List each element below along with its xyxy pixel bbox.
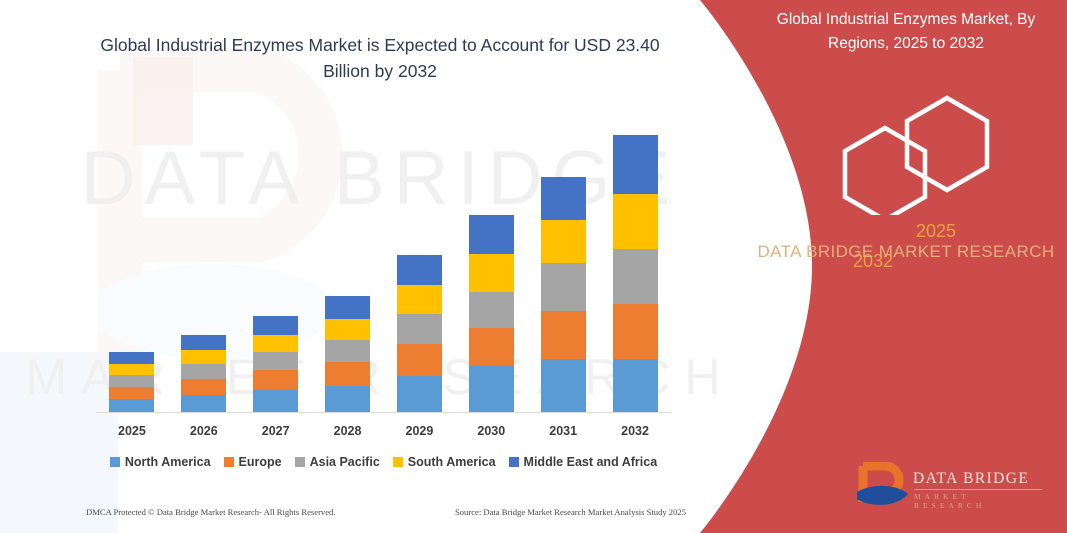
bar-segment[interactable] bbox=[325, 386, 370, 412]
bar-column bbox=[96, 110, 168, 412]
bar-segment[interactable] bbox=[397, 255, 442, 285]
legend-item[interactable]: North America bbox=[110, 455, 211, 469]
legend-label: Middle East and Africa bbox=[524, 455, 658, 469]
x-axis-tick-label: 2027 bbox=[240, 424, 312, 438]
bar-segment[interactable] bbox=[253, 335, 298, 352]
legend-item[interactable]: Middle East and Africa bbox=[509, 455, 658, 469]
bar-group bbox=[96, 110, 671, 412]
bar-segment[interactable] bbox=[613, 359, 658, 412]
footer: DMCA Protected © Data Bridge Market Rese… bbox=[86, 507, 686, 517]
bar-column bbox=[384, 110, 456, 412]
bar-segment[interactable] bbox=[181, 335, 226, 350]
bar-segment[interactable] bbox=[253, 370, 298, 390]
bar-segment[interactable] bbox=[181, 364, 226, 379]
hexagon-badges: 2025 2032 bbox=[745, 90, 1067, 215]
bar-segment[interactable] bbox=[469, 215, 514, 254]
bar-segment[interactable] bbox=[469, 328, 514, 366]
x-axis-labels: 20252026202720282029203020312032 bbox=[96, 424, 671, 438]
legend-item[interactable]: South America bbox=[393, 455, 496, 469]
stacked-bar[interactable] bbox=[541, 177, 586, 412]
bar-segment[interactable] bbox=[109, 387, 154, 399]
bar-segment[interactable] bbox=[541, 359, 586, 412]
stacked-bar[interactable] bbox=[397, 255, 442, 412]
bar-segment[interactable] bbox=[397, 314, 442, 344]
chart-infographic: DATA BRIDGE MARKET RESEARCH Global Indus… bbox=[0, 0, 1067, 533]
panel-title: Global Industrial Enzymes Market, By Reg… bbox=[745, 8, 1067, 56]
legend-item[interactable]: Asia Pacific bbox=[295, 455, 380, 469]
bridge-logo-icon bbox=[855, 462, 911, 512]
bar-segment[interactable] bbox=[613, 135, 658, 194]
stacked-bar[interactable] bbox=[253, 316, 298, 412]
bar-segment[interactable] bbox=[469, 366, 514, 412]
legend-swatch-icon bbox=[110, 457, 120, 467]
x-axis-tick-label: 2031 bbox=[527, 424, 599, 438]
legend-item[interactable]: Europe bbox=[224, 455, 282, 469]
brand-name: DATA BRIDGE MARKET RESEARCH bbox=[745, 238, 1067, 265]
bar-column bbox=[455, 110, 527, 412]
footer-copyright: DMCA Protected © Data Bridge Market Rese… bbox=[86, 507, 336, 517]
bar-segment[interactable] bbox=[109, 375, 154, 387]
bar-segment[interactable] bbox=[325, 340, 370, 362]
x-axis-tick-label: 2029 bbox=[384, 424, 456, 438]
bar-segment[interactable] bbox=[109, 399, 154, 412]
legend-label: North America bbox=[125, 455, 211, 469]
bar-segment[interactable] bbox=[613, 249, 658, 304]
bar-segment[interactable] bbox=[253, 352, 298, 371]
hexagon-shapes-icon bbox=[745, 90, 1067, 215]
bar-segment[interactable] bbox=[469, 292, 514, 328]
bar-segment[interactable] bbox=[181, 350, 226, 364]
legend-label: Asia Pacific bbox=[310, 455, 380, 469]
stacked-bar[interactable] bbox=[613, 135, 658, 412]
legend-swatch-icon bbox=[224, 457, 234, 467]
bar-column bbox=[527, 110, 599, 412]
bar-segment[interactable] bbox=[397, 376, 442, 412]
bar-segment[interactable] bbox=[469, 254, 514, 292]
legend-label: South America bbox=[408, 455, 496, 469]
bar-segment[interactable] bbox=[397, 285, 442, 314]
stacked-bar[interactable] bbox=[181, 335, 226, 412]
x-axis-tick-label: 2026 bbox=[168, 424, 240, 438]
logo-divider bbox=[914, 489, 1042, 490]
bar-column bbox=[168, 110, 240, 412]
bar-segment[interactable] bbox=[109, 364, 154, 375]
bar-segment[interactable] bbox=[253, 390, 298, 412]
bar-segment[interactable] bbox=[181, 379, 226, 395]
logo-text-sub: MARKET RESEARCH bbox=[914, 492, 1045, 510]
chart-title: Global Industrial Enzymes Market is Expe… bbox=[90, 32, 670, 84]
bar-column bbox=[599, 110, 671, 412]
hex-label-start-year: 2025 bbox=[916, 221, 956, 242]
bar-segment[interactable] bbox=[109, 352, 154, 364]
bar-column bbox=[240, 110, 312, 412]
bar-segment[interactable] bbox=[397, 344, 442, 376]
bar-segment[interactable] bbox=[613, 194, 658, 249]
bar-segment[interactable] bbox=[181, 395, 226, 412]
bar-column bbox=[312, 110, 384, 412]
company-logo: DATA BRIDGE MARKET RESEARCH bbox=[855, 462, 1045, 518]
bar-segment[interactable] bbox=[325, 319, 370, 340]
chart-legend: North AmericaEuropeAsia PacificSouth Ame… bbox=[96, 455, 671, 469]
hex-label-end-year: 2032 bbox=[853, 251, 893, 272]
x-axis-tick-label: 2025 bbox=[96, 424, 168, 438]
legend-swatch-icon bbox=[509, 457, 519, 467]
stacked-bar[interactable] bbox=[325, 296, 370, 412]
bar-segment[interactable] bbox=[325, 296, 370, 319]
stacked-bar[interactable] bbox=[469, 215, 514, 412]
legend-swatch-icon bbox=[393, 457, 403, 467]
x-axis-tick-label: 2028 bbox=[312, 424, 384, 438]
footer-source: Source: Data Bridge Market Research Mark… bbox=[455, 507, 686, 517]
x-axis-line bbox=[96, 412, 671, 413]
bar-segment[interactable] bbox=[541, 220, 586, 263]
bar-segment[interactable] bbox=[325, 362, 370, 386]
logo-text-main: DATA BRIDGE bbox=[913, 470, 1029, 488]
bar-segment[interactable] bbox=[253, 316, 298, 334]
x-axis-tick-label: 2032 bbox=[599, 424, 671, 438]
bar-segment[interactable] bbox=[541, 263, 586, 311]
bar-segment[interactable] bbox=[613, 304, 658, 359]
legend-label: Europe bbox=[239, 455, 282, 469]
x-axis-tick-label: 2030 bbox=[455, 424, 527, 438]
stacked-bar[interactable] bbox=[109, 352, 154, 412]
bar-segment[interactable] bbox=[541, 177, 586, 220]
chart-panel: DATA BRIDGE MARKET RESEARCH Global Indus… bbox=[0, 0, 760, 533]
legend-swatch-icon bbox=[295, 457, 305, 467]
branding-content: Global Industrial Enzymes Market, By Reg… bbox=[745, 0, 1067, 533]
bar-segment[interactable] bbox=[541, 311, 586, 359]
